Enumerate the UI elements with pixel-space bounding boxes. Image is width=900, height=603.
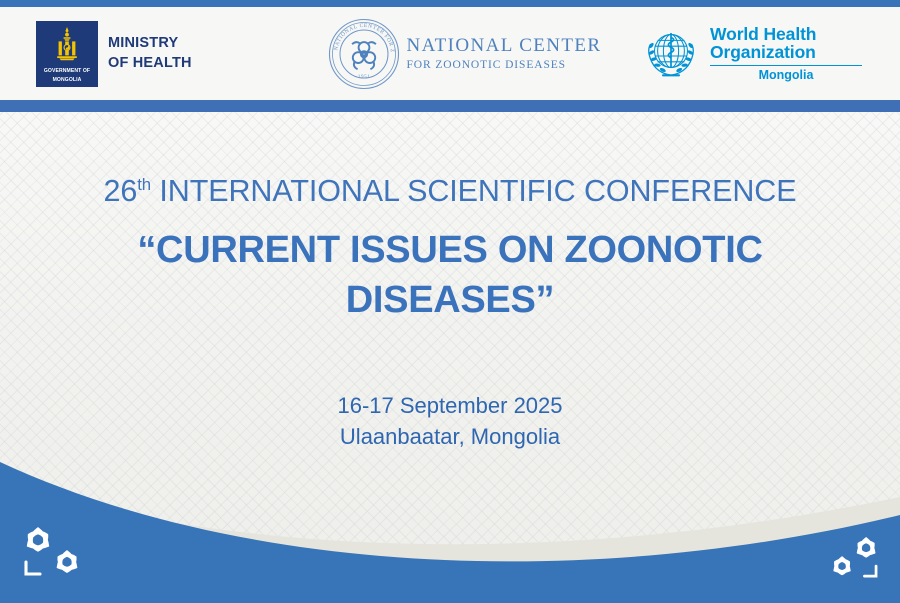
national-center-logo: NATIONAL CENTER FOR ZOONOTIC DISEASES 19…: [296, 17, 632, 91]
page-title: “CURRENT ISSUES ON ZOONOTIC DISEASES”: [0, 225, 900, 325]
logo-row: GOVERNMENT OF MONGOLIA MINISTRY OF HEALT…: [0, 7, 900, 100]
who-wordmark: World Health Organization Mongolia: [710, 25, 862, 83]
biohazard-seal-icon: NATIONAL CENTER FOR ZOONOTIC DISEASES 19…: [327, 17, 401, 91]
conference-title-slide: GOVERNMENT OF MONGOLIA MINISTRY OF HEALT…: [0, 0, 900, 603]
who-divider: [710, 65, 862, 67]
top-accent-rule: [0, 0, 900, 7]
who-name-line1: World Health: [710, 25, 862, 44]
conference-edition-line: 26th INTERNATIONAL SCIENTIFIC CONFERENCE: [0, 174, 900, 209]
header-accent-rule: [0, 100, 900, 112]
edition-number: 26: [104, 174, 138, 208]
national-center-name: NATIONAL CENTER FOR ZOONOTIC DISEASES: [407, 36, 602, 72]
event-dates: 16-17 September 2025: [0, 391, 900, 421]
mongolia-label: MONGOLIA: [36, 77, 98, 83]
event-meta: 16-17 September 2025 Ulaanbaatar, Mongol…: [0, 391, 900, 452]
edition-rest: INTERNATIONAL SCIENTIFIC CONFERENCE: [151, 174, 796, 208]
national-center-name-line1: NATIONAL CENTER: [407, 36, 602, 57]
ministry-name: MINISTRY OF HEALTH: [108, 34, 192, 72]
mongolia-soyombo-emblem-icon: GOVERNMENT OF MONGOLIA: [36, 21, 98, 87]
ministry-name-line2: OF HEALTH: [108, 54, 192, 73]
national-center-name-line2: FOR ZOONOTIC DISEASES: [407, 59, 602, 72]
event-location: Ulaanbaatar, Mongolia: [0, 422, 900, 452]
who-name-line2: Organization: [710, 43, 862, 62]
ministry-name-line1: MINISTRY: [108, 34, 192, 53]
title-block: 26th INTERNATIONAL SCIENTIFIC CONFERENCE…: [0, 112, 900, 482]
who-rod-of-asclepius-icon: [640, 23, 702, 85]
soyombo-icon: [52, 26, 82, 66]
mongolian-knot-ornament-left: [14, 520, 96, 582]
edition-suffix: th: [137, 175, 151, 194]
seal-year: 1951: [357, 74, 369, 80]
ministry-of-health-logo: GOVERNMENT OF MONGOLIA MINISTRY OF HEALT…: [36, 21, 336, 87]
who-country-label: Mongolia: [710, 68, 862, 82]
mongolian-knot-ornament-right: [818, 528, 886, 586]
government-label: GOVERNMENT OF: [36, 69, 98, 74]
who-logo: World Health Organization Mongolia: [632, 23, 862, 85]
